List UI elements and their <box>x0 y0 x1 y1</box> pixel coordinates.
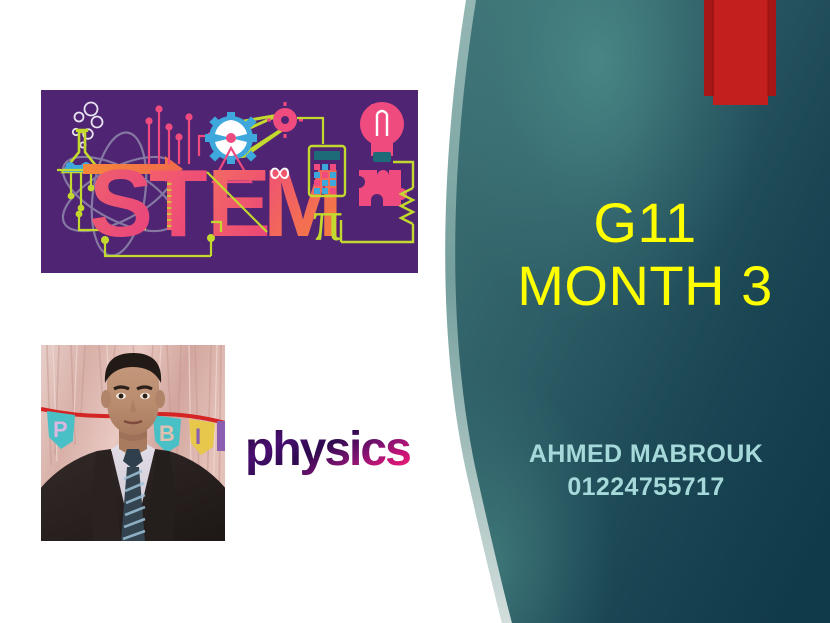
banner-letter-b: B <box>159 421 175 446</box>
presentation-slide: G11 MONTH 3 AHMED MABROUK 01224755717 <box>0 0 830 623</box>
stem-education-logo-image: S T E M ∞ <box>41 90 418 273</box>
puzzle-piece-icon <box>359 170 407 206</box>
physics-text: physics <box>245 423 410 476</box>
physics-svg: physics <box>243 415 411 479</box>
ear-left <box>101 390 111 408</box>
banner-letter-p: P <box>53 417 68 442</box>
letter-s: S <box>89 150 153 257</box>
ribbon-seam-left <box>712 0 714 96</box>
presenter-portrait-photo: P B I <box>41 345 225 541</box>
ribbon-front-layer <box>713 0 768 105</box>
ribbon-svg <box>700 0 790 105</box>
physics-wordmark-image: physics <box>243 415 411 479</box>
pi-glyph: π <box>313 188 342 253</box>
pi-icon: π <box>313 188 342 253</box>
banner-letter-i: I <box>195 424 201 449</box>
ear-right <box>155 390 165 408</box>
portrait-svg: P B I <box>41 345 225 541</box>
letter-t: T <box>149 150 208 257</box>
pupil-left <box>119 394 124 399</box>
presenter-name: AHMED MABROUK <box>468 438 824 471</box>
infinity-icon: ∞ <box>269 156 290 189</box>
stem-letters: S T E M <box>89 150 343 257</box>
title-line-1: G11 <box>470 192 820 255</box>
title-line-2: MONTH 3 <box>470 255 820 318</box>
stem-logo-svg: S T E M ∞ <box>41 90 418 273</box>
banner-letter-edge <box>217 421 225 451</box>
slide-title: G11 MONTH 3 <box>470 192 820 317</box>
ribbon-seam-right <box>767 0 769 96</box>
red-ribbon-decoration <box>700 0 790 105</box>
infinity-glyph: ∞ <box>269 156 290 189</box>
pupil-right <box>143 394 148 399</box>
slide-subtitle: AHMED MABROUK 01224755717 <box>468 438 824 504</box>
presenter-phone: 01224755717 <box>468 471 824 504</box>
